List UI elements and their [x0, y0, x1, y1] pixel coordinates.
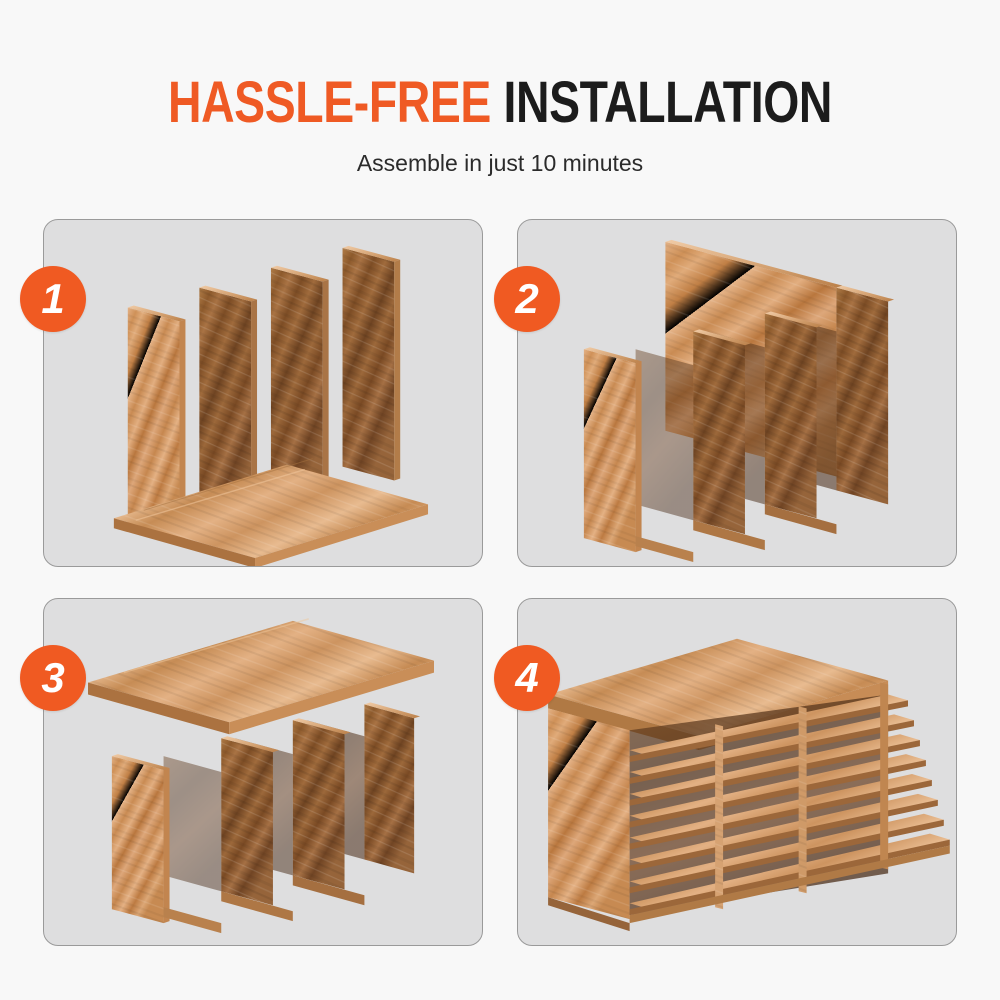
side-panel-right: [836, 286, 894, 505]
step-1-illustration: [44, 220, 482, 566]
step-4-illustration: [518, 599, 956, 945]
side-panel-right: [880, 683, 888, 870]
step-3-illustration: [44, 599, 482, 945]
divider-panel-3: [765, 311, 823, 518]
step-panel-2: 2: [517, 219, 957, 567]
step-badge-4: 4: [494, 645, 560, 711]
side-panel-left: [548, 708, 630, 919]
step-badge-2: 2: [494, 266, 560, 332]
step-panel-1: 1: [43, 219, 483, 567]
page-title: HASSLE-FREE INSTALLATION: [100, 74, 900, 132]
divider-panel-3: [293, 718, 351, 889]
step-badge-1: 1: [20, 266, 86, 332]
step-panel-4: 4: [517, 598, 957, 946]
step-3-artwork-area: [44, 599, 482, 945]
side-panel-left: [112, 754, 170, 923]
divider-panel-3: [271, 266, 329, 501]
divider-panel-4: [343, 246, 401, 481]
page-title-rest: INSTALLATION: [503, 70, 832, 135]
step-panel-3: 3: [43, 598, 483, 946]
step-2-artwork-area: [518, 220, 956, 566]
side-panel-right: [364, 702, 420, 873]
compartment-shadow-left: [164, 756, 222, 891]
header: HASSLE-FREE INSTALLATION Assemble in jus…: [0, 0, 1000, 177]
divider-panel-2: [693, 329, 751, 534]
side-panel-left: [584, 347, 642, 552]
infographic-page: HASSLE-FREE INSTALLATION Assemble in jus…: [0, 0, 1000, 1000]
step-2-illustration: [518, 220, 956, 566]
divider-panel-2: [715, 724, 723, 909]
divider-panel-3: [799, 706, 807, 893]
page-title-highlight: HASSLE-FREE: [168, 70, 491, 135]
compartment-shadow-left: [636, 349, 694, 520]
divider-panel-2: [221, 736, 279, 905]
step-4-artwork-area: [518, 599, 956, 945]
step-badge-3: 3: [20, 645, 86, 711]
page-subtitle: Assemble in just 10 minutes: [0, 150, 1000, 177]
step-1-artwork-area: [44, 220, 482, 566]
